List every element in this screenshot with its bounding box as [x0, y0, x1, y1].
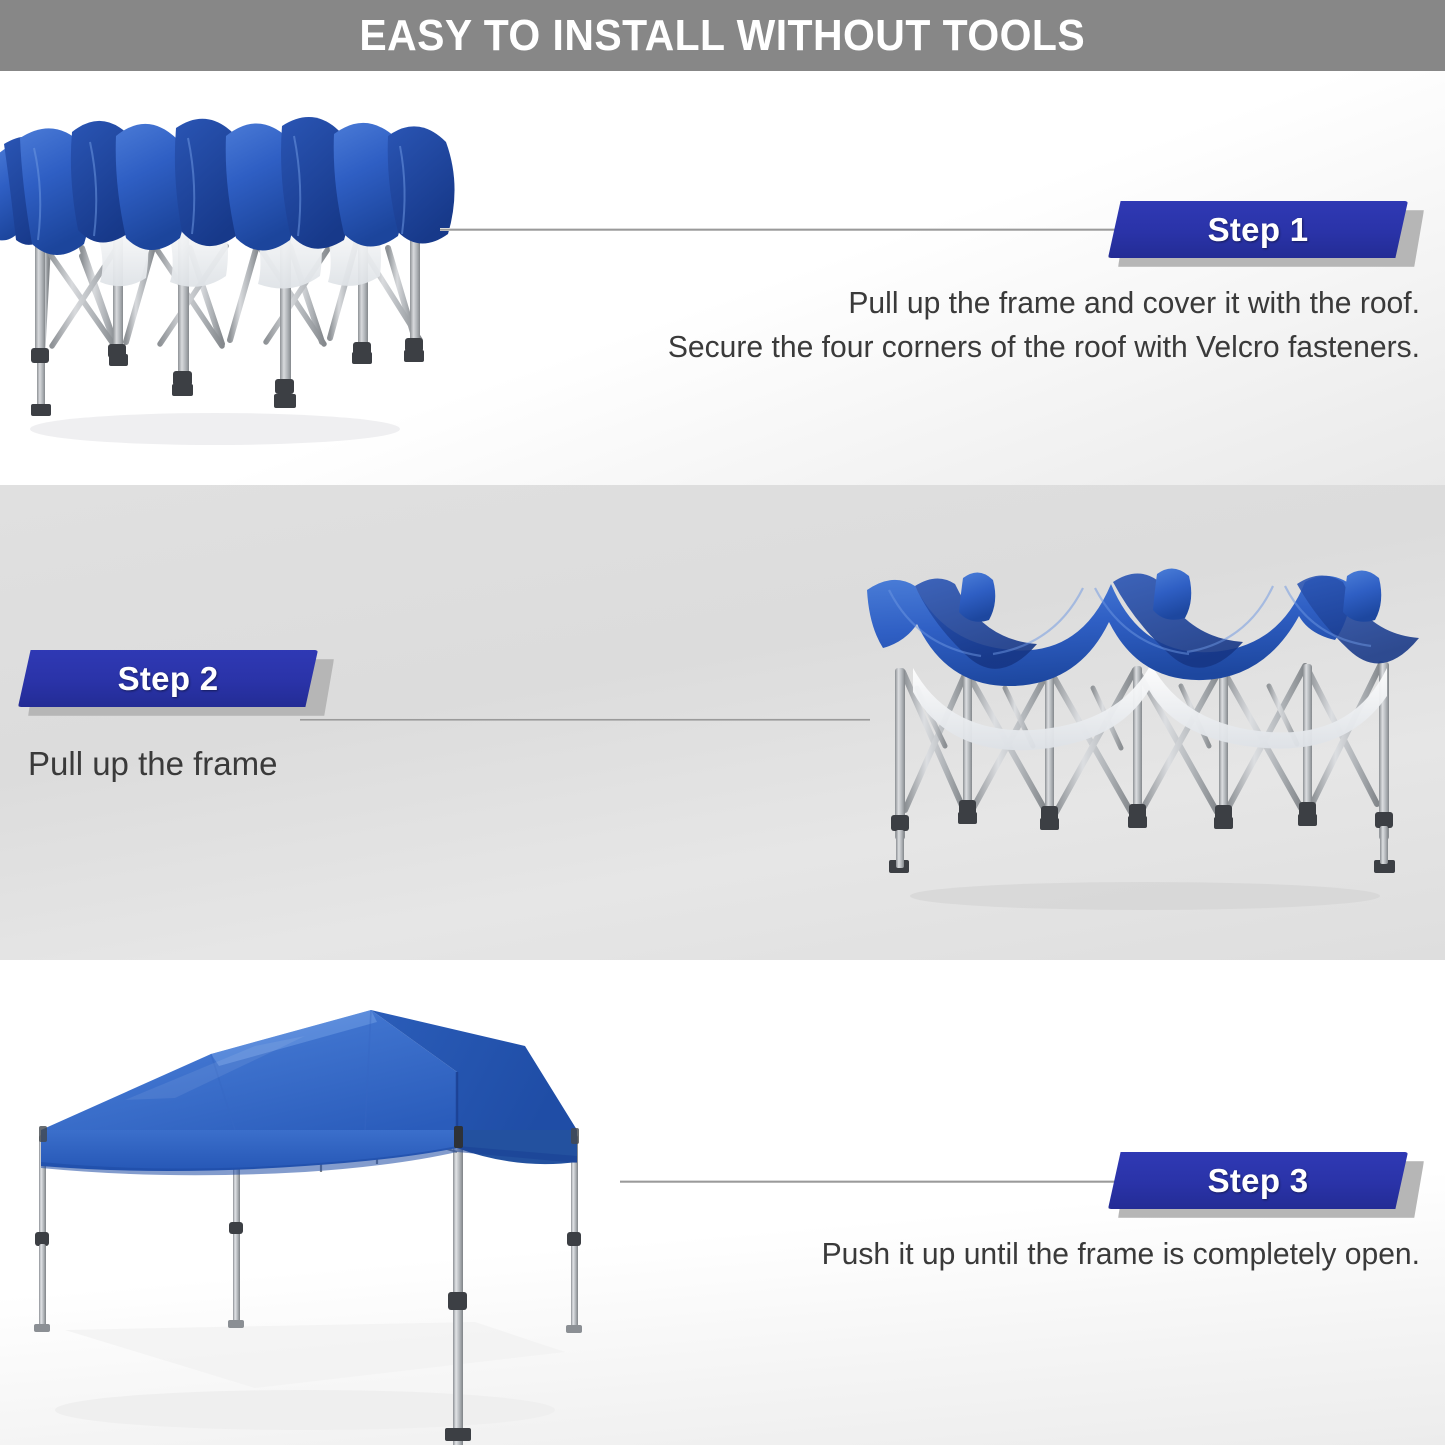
folded-canopy-frame-with-roof: [0, 96, 460, 456]
partially-raised-canopy-frame: [845, 560, 1445, 920]
infographic-page: EASY TO INSTALL WITHOUT TOOLS: [0, 0, 1445, 1445]
step-badge-label: Step 2: [118, 660, 219, 698]
section-step-2: Step 2: [0, 485, 1445, 960]
step-badge-2[interactable]: Step 2: [18, 650, 334, 716]
step-badge-label: Step 3: [1208, 1162, 1309, 1200]
section-step-3: Step 3 Push it up until the frame is com…: [0, 960, 1445, 1445]
step-1-description: Pull up the frame and cover it with the …: [450, 281, 1420, 369]
header-bar: EASY TO INSTALL WITHOUT TOOLS: [0, 0, 1445, 71]
step-3-line-1: Push it up until the frame is completely…: [450, 1232, 1420, 1276]
step-badge-shape: Step 2: [18, 650, 318, 707]
step-badge-shape: Step 1: [1108, 201, 1408, 258]
connector-line-step-2: [300, 718, 870, 721]
connector-line-step-1: [440, 228, 1120, 231]
step-badge-3[interactable]: Step 3: [1108, 1152, 1424, 1218]
page-title: EASY TO INSTALL WITHOUT TOOLS: [360, 11, 1086, 61]
step-badge-label: Step 1: [1208, 211, 1309, 249]
step-badge-1[interactable]: Step 1: [1108, 201, 1424, 267]
step-badge-shape: Step 3: [1108, 1152, 1408, 1209]
connector-line-step-3: [620, 1180, 1140, 1183]
step-1-line-1: Pull up the frame and cover it with the …: [450, 281, 1420, 325]
step-3-description: Push it up until the frame is completely…: [450, 1232, 1420, 1276]
fully-open-canopy-tent: [5, 980, 625, 1445]
section-step-1: Step 1 Pull up the frame and cover it wi…: [0, 71, 1445, 485]
step-1-line-2: Secure the four corners of the roof with…: [450, 325, 1420, 369]
step-2-description: Pull up the frame: [28, 745, 277, 783]
